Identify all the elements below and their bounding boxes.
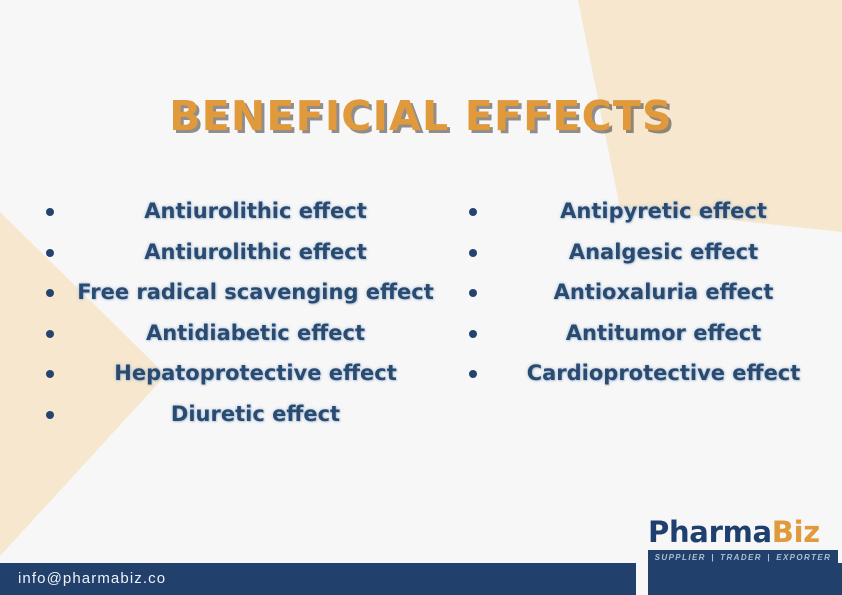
list-item-label: Diuretic effect (171, 402, 340, 426)
list-item-label: Antipyretic effect (560, 199, 767, 223)
bullet-icon (46, 208, 54, 216)
list-item: Hepatoprotective effect (22, 358, 445, 390)
bullet-icon (46, 411, 54, 419)
logo-word-accent: Biz (772, 515, 820, 549)
list-item: Antiurolithic effect (22, 196, 445, 228)
list-item-label: Cardioprotective effect (527, 361, 801, 385)
list-item-label: Hepatoprotective effect (114, 361, 397, 385)
bullet-icon (469, 289, 477, 297)
list-item-label: Free radical scavenging effect (77, 280, 434, 304)
logo-tagline-bar: SUPPLIER | TRADER | EXPORTER (648, 550, 838, 564)
list-item: Free radical scavenging effect (22, 277, 445, 309)
list-item-label: Antiurolithic effect (144, 240, 367, 264)
list-item: Cardioprotective effect (453, 358, 842, 390)
bullet-icon (46, 330, 54, 338)
pharmabiz-logo: PharmaBiz SUPPLIER | TRADER | EXPORTER (648, 518, 838, 564)
bullet-icon (469, 330, 477, 338)
bullet-icon (46, 289, 54, 297)
list-item: Antioxaluria effect (453, 277, 842, 309)
list-item-label: Antiurolithic effect (144, 199, 367, 223)
list-item-label: Analgesic effect (569, 240, 758, 264)
effects-column-left: Antiurolithic effect Antiurolithic effec… (0, 196, 445, 456)
effect-list-left: Antiurolithic effect Antiurolithic effec… (22, 196, 445, 430)
bullet-icon (469, 208, 477, 216)
page-title-text: BENEFICIAL EFFECTS (169, 92, 673, 140)
logo-tagline-separator: | (711, 553, 715, 562)
effects-column-right: Antipyretic effect Analgesic effect Anti… (445, 196, 842, 456)
list-item: Antiurolithic effect (22, 237, 445, 269)
list-item: Analgesic effect (453, 237, 842, 269)
list-item: Antidiabetic effect (22, 318, 445, 350)
slide-canvas: BENEFICIAL EFFECTS Antiurolithic effect … (0, 0, 842, 595)
bullet-icon (46, 370, 54, 378)
list-item: Antitumor effect (453, 318, 842, 350)
list-item-label: Antitumor effect (566, 321, 761, 345)
logo-tagline-separator: | (767, 553, 771, 562)
list-item-label: Antidiabetic effect (146, 321, 365, 345)
logo-tagline-trader: TRADER (720, 553, 762, 562)
footer-bar-right (648, 563, 842, 595)
page-title: BENEFICIAL EFFECTS (0, 92, 842, 140)
logo-tagline-supplier: SUPPLIER (655, 553, 706, 562)
footer-email[interactable]: info@pharmabiz.co (18, 570, 166, 587)
bullet-icon (469, 370, 477, 378)
effects-columns: Antiurolithic effect Antiurolithic effec… (0, 196, 842, 456)
list-item: Diuretic effect (22, 399, 445, 431)
list-item: Antipyretic effect (453, 196, 842, 228)
logo-word-primary: Pharma (648, 515, 772, 549)
effect-list-right: Antipyretic effect Analgesic effect Anti… (453, 196, 842, 390)
bullet-icon (46, 249, 54, 257)
logo-tagline-exporter: EXPORTER (776, 553, 831, 562)
list-item-label: Antioxaluria effect (554, 280, 774, 304)
bullet-icon (469, 249, 477, 257)
logo-wordmark: PharmaBiz (648, 518, 838, 547)
